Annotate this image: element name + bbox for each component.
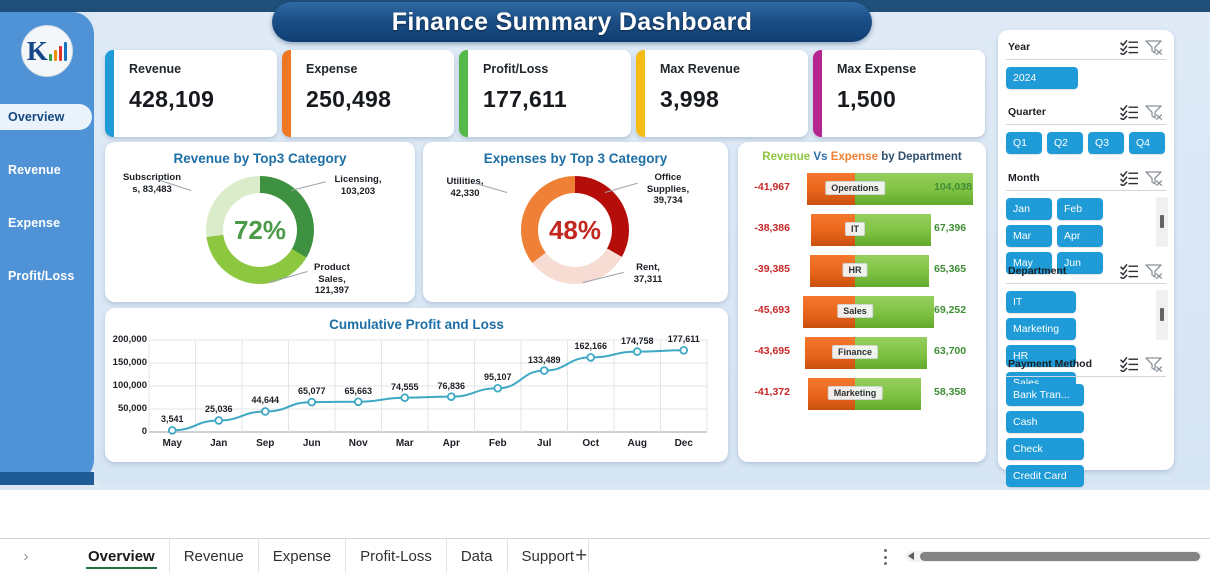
department-bar-chart: -41,967104,038Operations-38,38667,396IT-… (738, 170, 986, 460)
sheet-tab-label: Revenue (184, 548, 244, 565)
slicer-options: 2024 (998, 60, 1174, 89)
sidebar-item-label: Overview (8, 110, 64, 124)
kpi-card-revenue: Revenue428,109 (105, 50, 277, 137)
slicer-option-q3[interactable]: Q3 (1088, 132, 1124, 154)
sheet-tab-expense[interactable]: Expense (259, 539, 346, 573)
expense-value-label: -43,695 (744, 345, 790, 357)
donut-center-label: 48% (521, 176, 629, 284)
revenue-value-label: 65,365 (934, 263, 982, 275)
slicer-scrollbar-thumb[interactable] (1160, 215, 1164, 228)
multi-select-icon[interactable] (1120, 104, 1140, 120)
callout-line: 103,203 (323, 186, 393, 198)
kpi-card-max-revenue: Max Revenue3,998 (636, 50, 808, 137)
slicer-options: Bank Tran...CashCheckCredit Card (998, 377, 1174, 487)
revenue-category-title: Revenue by Top3 Category (105, 151, 415, 166)
kpi-label: Revenue (129, 62, 181, 76)
kpi-card-expense: Expense250,498 (282, 50, 454, 137)
cumulative-line-chart: 050,000100,000150,000200,000May3,541Jan2… (105, 308, 728, 462)
x-axis-tick-label: Jul (522, 438, 566, 449)
slicer-payment-method: Payment MethodBank Tran...CashCheckCredi… (998, 355, 1174, 487)
kpi-value: 177,611 (483, 86, 567, 113)
title-part-expense: Expense (831, 151, 878, 163)
title-part-revenue: Revenue (762, 151, 810, 163)
slicer-header: Month (1006, 169, 1166, 191)
slicer-option-mar[interactable]: Mar (1006, 225, 1052, 247)
department-name-tag: HR (843, 263, 868, 277)
kpi-card-max-expense: Max Expense1,500 (813, 50, 985, 137)
slicer-title: Payment Method (1008, 358, 1092, 370)
slicer-option-marketing[interactable]: Marketing (1006, 318, 1076, 340)
slicer-header: Payment Method (1006, 355, 1166, 377)
slicer-quarter: QuarterQ1Q2Q3Q4 (998, 103, 1174, 154)
kpi-accent-bar (105, 50, 114, 137)
logo-bars-icon (49, 41, 68, 61)
kpi-accent-bar (813, 50, 822, 137)
kpi-value: 250,498 (306, 86, 391, 113)
sidebar-item-revenue[interactable]: Revenue (0, 157, 94, 183)
revenue-value-label: 104,038 (934, 181, 982, 193)
sheet-tab-revenue[interactable]: Revenue (170, 539, 259, 573)
sidebar-footer (0, 472, 94, 485)
sheet-tab-label: Profit-Loss (360, 548, 432, 565)
data-point-label: 44,644 (239, 395, 291, 405)
slicer-month: MonthJanFebMarAprMayJun (998, 169, 1174, 274)
title-part-vs: Vs (813, 151, 827, 163)
callout-line: Subscription (113, 172, 191, 184)
department-bar-row: -38,38667,396IT (738, 211, 986, 249)
kpi-accent-bar (459, 50, 468, 137)
sidebar-item-label: Expense (8, 216, 60, 230)
expense-category-title: Expenses by Top 3 Category (423, 151, 728, 166)
x-axis-tick-label: Oct (569, 438, 613, 449)
data-point-label: 174,758 (611, 336, 663, 346)
sheet-overflow-icon[interactable] (884, 549, 888, 565)
expense-category-panel: Expenses by Top 3 Category 48%OfficeSupp… (423, 142, 728, 302)
clear-filter-icon[interactable] (1144, 39, 1164, 55)
callout-line: Supplies, (635, 184, 701, 196)
logo-letter: K (27, 38, 48, 65)
clear-filter-icon[interactable] (1144, 170, 1164, 186)
data-point-label: 65,077 (286, 386, 338, 396)
sheet-tabs: OverviewRevenueExpenseProfit-LossDataSup… (74, 539, 589, 573)
slicer-option-feb[interactable]: Feb (1057, 198, 1103, 220)
sidebar-item-label: Revenue (8, 163, 61, 177)
data-point-label: 133,489 (518, 355, 570, 365)
data-point-label: 162,166 (565, 341, 617, 351)
multi-select-icon[interactable] (1120, 170, 1140, 186)
department-bar-row: -43,69563,700Finance (738, 334, 986, 372)
slicer-scrollbar[interactable] (1156, 290, 1168, 340)
expense-value-label: -38,386 (744, 222, 790, 234)
data-point-label: 76,836 (425, 381, 477, 391)
department-name-tag: IT (845, 222, 865, 236)
expense-value-label: -41,967 (744, 181, 790, 193)
callout-line: 42,330 (427, 188, 503, 200)
add-sheet-button[interactable]: + (575, 544, 587, 568)
dashboard-title-banner: Finance Summary Dashboard (272, 2, 872, 42)
kpi-value: 1,500 (837, 86, 896, 113)
slicer-option-q2[interactable]: Q2 (1047, 132, 1083, 154)
donut-center-label: 72% (206, 176, 314, 284)
slicer-title: Month (1008, 172, 1040, 184)
multi-select-icon[interactable] (1120, 356, 1140, 372)
clear-filter-icon[interactable] (1144, 263, 1164, 279)
sheet-tab-data[interactable]: Data (447, 539, 508, 573)
data-point-label: 3,541 (146, 414, 198, 424)
horizontal-scrollbar[interactable] (906, 551, 1202, 562)
bottom-bar: خمسات › OverviewRevenueExpenseProfit-Los… (0, 490, 1210, 576)
kpi-label: Max Revenue (660, 62, 740, 76)
slicer-option-apr[interactable]: Apr (1057, 225, 1103, 247)
department-title: Revenue Vs Expense by Department (738, 151, 986, 163)
cumulative-panel: Cumulative Profit and Loss 050,000100,00… (105, 308, 728, 462)
data-point-label: 95,107 (472, 372, 524, 382)
slicer-option-bank-tran-[interactable]: Bank Tran... (1006, 384, 1084, 406)
x-axis-tick-label: Sep (243, 438, 287, 449)
sheet-tab-overview[interactable]: Overview (74, 539, 170, 573)
callout-line: 39,734 (635, 195, 701, 207)
sidebar-item-label: Profit/Loss (8, 269, 74, 283)
department-bar-row: -41,37258,358Marketing (738, 375, 986, 413)
sheet-tab-label: Overview (88, 548, 155, 565)
dashboard-window: K OverviewRevenueExpenseProfit/Loss Fina… (0, 0, 1210, 576)
title-part-suffix: by Department (881, 151, 962, 163)
slicer-title: Department (1008, 265, 1066, 277)
slicer-option-q4[interactable]: Q4 (1129, 132, 1165, 154)
x-axis-tick-label: Feb (476, 438, 520, 449)
scrollbar-thumb[interactable] (920, 552, 1200, 561)
slicer-option-check[interactable]: Check (1006, 438, 1084, 460)
expense-value-label: -45,693 (744, 304, 790, 316)
callout-line: 121,397 (301, 285, 363, 297)
page-title: Finance Summary Dashboard (392, 8, 752, 37)
sheet-tab-profit-loss[interactable]: Profit-Loss (346, 539, 447, 573)
slicer-header: Year (1006, 38, 1166, 60)
kpi-value: 428,109 (129, 86, 214, 113)
sheet-nav-next-icon[interactable]: › (14, 546, 38, 566)
data-point-label: 177,611 (658, 334, 710, 344)
multi-select-icon[interactable] (1120, 39, 1140, 55)
sheet-tab-bar: › OverviewRevenueExpenseProfit-LossDataS… (0, 538, 1210, 572)
slicer-header: Department (1006, 262, 1166, 284)
data-point-label: 65,663 (332, 386, 384, 396)
department-name-tag: Operations (825, 181, 885, 195)
multi-select-icon[interactable] (1120, 263, 1140, 279)
slicer-header: Quarter (1006, 103, 1166, 125)
company-logo-icon: K (21, 25, 73, 77)
slicer-title: Year (1008, 41, 1030, 53)
kpi-label: Profit/Loss (483, 62, 548, 76)
slicer-scrollbar[interactable] (1156, 197, 1168, 247)
expense-value-label: -41,372 (744, 386, 790, 398)
filter-panel: Year2024QuarterQ1Q2Q3Q4MonthJanFebMarApr… (998, 30, 1174, 470)
callout-line: Licensing, (323, 174, 393, 186)
revenue-bar (855, 214, 931, 246)
kpi-accent-bar (636, 50, 645, 137)
x-axis-tick-label: Mar (383, 438, 427, 449)
slicer-option-it[interactable]: IT (1006, 291, 1076, 313)
slicer-option-q1[interactable]: Q1 (1006, 132, 1042, 154)
department-bar-row: -39,38565,365HR (738, 252, 986, 290)
slicer-option-cash[interactable]: Cash (1006, 411, 1084, 433)
callout-line: Office (635, 172, 701, 184)
revenue-value-label: 58,358 (934, 386, 982, 398)
data-point-label: 25,036 (193, 404, 245, 414)
kpi-card-profit-loss: Profit/Loss177,611 (459, 50, 631, 137)
sidebar-item-expense[interactable]: Expense (0, 210, 94, 236)
kpi-label: Max Expense (837, 62, 916, 76)
department-name-tag: Marketing (828, 386, 883, 400)
donut-callout-label: OfficeSupplies,39,734 (635, 172, 701, 207)
slicer-title: Quarter (1008, 106, 1046, 118)
expense-value-label: -39,385 (744, 263, 790, 275)
revenue-category-panel: Revenue by Top3 Category 72%Licensing,10… (105, 142, 415, 302)
donut-callout-label: Licensing,103,203 (323, 174, 393, 197)
logo-container: K (0, 12, 94, 90)
donut-callout-label: Subscriptions, 83,483 (113, 172, 191, 195)
kpi-label: Expense (306, 62, 357, 76)
department-panel: Revenue Vs Expense by Department -41,967… (738, 142, 986, 462)
sheet-tab-label: Expense (273, 548, 331, 565)
clear-filter-icon[interactable] (1144, 356, 1164, 372)
slicer-options: Q1Q2Q3Q4 (998, 125, 1174, 154)
sidebar-item-profit-loss[interactable]: Profit/Loss (0, 263, 94, 289)
callout-line: Utilities, (427, 176, 503, 188)
revenue-value-label: 63,700 (934, 345, 982, 357)
slicer-year: Year2024 (998, 38, 1174, 89)
revenue-value-label: 67,396 (934, 222, 982, 234)
slicer-option-credit-card[interactable]: Credit Card (1006, 465, 1084, 487)
slicer-option-2024[interactable]: 2024 (1006, 67, 1078, 89)
department-name-tag: Finance (832, 345, 878, 359)
clear-filter-icon[interactable] (1144, 104, 1164, 120)
sheet-tab-label: Data (461, 548, 493, 565)
slicer-option-jan[interactable]: Jan (1006, 198, 1052, 220)
department-bar-row: -45,69369,252Sales (738, 293, 986, 331)
data-point-label: 74,555 (379, 382, 431, 392)
x-axis-tick-label: Aug (615, 438, 659, 449)
x-axis-tick-label: Jun (290, 438, 334, 449)
x-axis-tick-label: May (150, 438, 194, 449)
department-name-tag: Sales (837, 304, 873, 318)
scroll-left-icon[interactable] (908, 552, 914, 560)
kpi-accent-bar (282, 50, 291, 137)
sheet-tab-label: Support (522, 548, 575, 565)
x-axis-tick-label: Apr (429, 438, 473, 449)
slicer-scrollbar-thumb[interactable] (1160, 308, 1164, 321)
department-bar-row: -41,967104,038Operations (738, 170, 986, 208)
x-axis-tick-label: Jan (197, 438, 241, 449)
sidebar-item-overview[interactable]: Overview (0, 104, 92, 130)
revenue-value-label: 69,252 (934, 304, 982, 316)
x-axis-tick-label: Nov (336, 438, 380, 449)
x-axis-tick-label: Dec (662, 438, 706, 449)
kpi-value: 3,998 (660, 86, 719, 113)
